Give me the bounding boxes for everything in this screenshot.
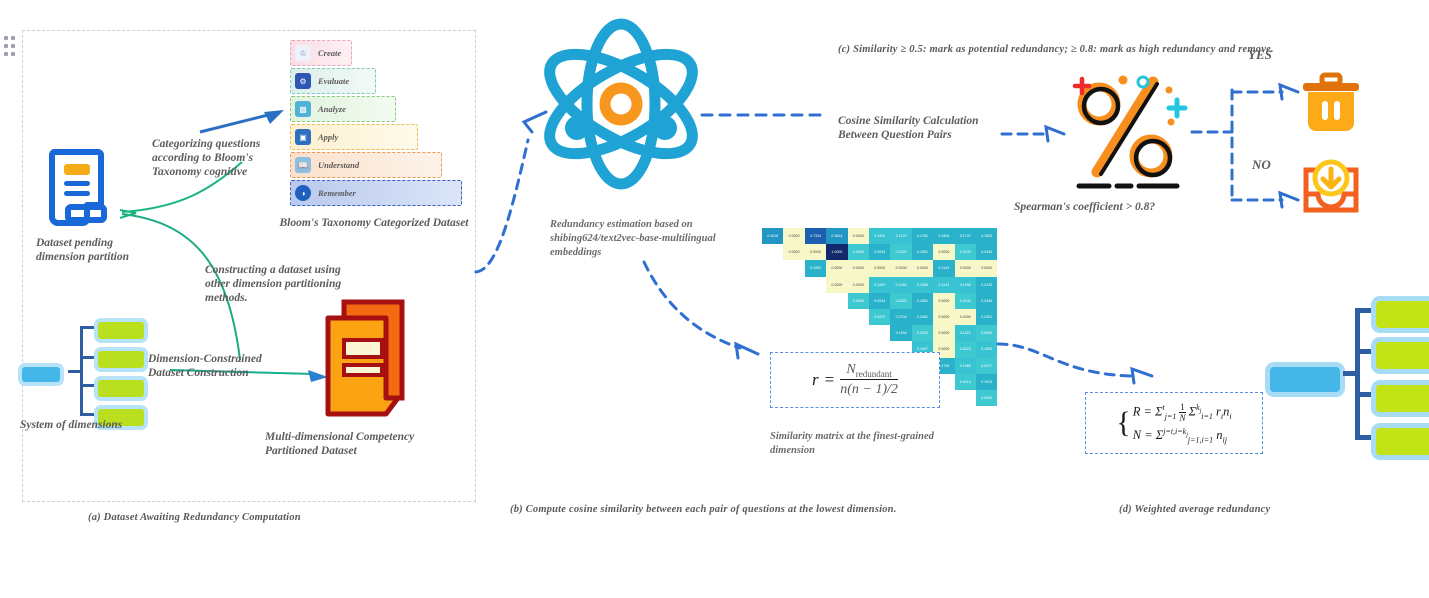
formula-r-denominator: n(n − 1)/2 (840, 380, 898, 398)
matrix-cell: 0.0000 (848, 277, 869, 293)
brain-icon: ◑ (295, 185, 311, 201)
matrix-cell: 0.1298 (955, 277, 976, 293)
bloom-arrow-label-l1: Categorizing questions (152, 137, 287, 151)
matrix-cell: 0.0113 (955, 374, 976, 390)
matrix-cell: 0.0217 (976, 358, 997, 374)
formula-r-numerator: Nredundant (840, 362, 898, 381)
matrix-cell: 0.0000 (933, 325, 954, 341)
connector-atom-to-cosine (700, 108, 830, 122)
result-node[interactable] (1371, 423, 1429, 460)
branch-yes-label: YES (1248, 48, 1272, 62)
other-methods-l2: other dimension partitioning (205, 277, 365, 291)
matrix-cell: 0.0223 (955, 341, 976, 357)
download-tray-icon[interactable] (1300, 160, 1362, 218)
bloom-level-label: Create (318, 48, 341, 58)
crown-icon: ♔ (295, 45, 311, 61)
matrix-cell: 0.0000 (955, 260, 976, 276)
matrix-cell: 0.1804 (933, 228, 954, 244)
system-of-dimensions-tree (18, 318, 168, 428)
db-label-l1: Multi-dimensional Competency (265, 430, 465, 444)
matrix-cell: 0.1851 (912, 293, 933, 309)
matrix-cell: 0.0130 (955, 293, 976, 309)
formula-r-numerator-sub: redundant (856, 368, 892, 378)
db-label-l2: Partitioned Dataset (265, 444, 465, 458)
dimension-node[interactable] (94, 347, 148, 372)
book-icon: 📖 (295, 157, 311, 173)
dimension-constrained-l1: Dimension-Constrained (148, 352, 308, 366)
trash-icon[interactable] (1300, 73, 1362, 135)
matrix-cell: 0.0000 (805, 244, 826, 260)
dimension-node[interactable] (94, 318, 148, 343)
bloom-level-label: Remember (318, 188, 356, 198)
arrow-to-bloom (198, 102, 290, 138)
matrix-cell: 0.1781 (912, 228, 933, 244)
matrix-cell: 0.0000 (912, 260, 933, 276)
dataset-document-icon (48, 148, 116, 230)
bloom-arrow-label: Categorizing questions according to Bloo… (152, 137, 287, 179)
bloom-level-analyze[interactable]: ▩ Analyze (290, 96, 396, 122)
bloom-level-create[interactable]: ♔ Create (290, 40, 352, 66)
matrix-caption-l1: Similarity matrix at the finest-grained (770, 430, 980, 444)
matrix-cell: 0.1066 (912, 277, 933, 293)
matrix-cell: 0.0000 (826, 277, 847, 293)
matrix-cell: 0.0130 (955, 244, 976, 260)
cosine-note-l2: Between Question Pairs (838, 128, 1008, 142)
bloom-level-understand[interactable]: 📖 Understand (290, 152, 442, 178)
matrix-cell: 0.1983 (805, 260, 826, 276)
other-methods-label: Constructing a dataset using other dimen… (205, 263, 365, 305)
matrix-cell: 0.1170 (890, 228, 911, 244)
db-label: Multi-dimensional Competency Partitioned… (265, 430, 465, 458)
bloom-arrow-label-l2: according to Bloom's (152, 151, 287, 165)
matrix-cell: 0.1262 (869, 277, 890, 293)
bloom-level-apply[interactable]: ▣ Apply (290, 124, 418, 150)
matrix-cell: 0.1069 (955, 358, 976, 374)
bloom-level-remember[interactable]: ◑ Remember (290, 180, 462, 206)
dimension-constrained-l2: Dataset Construction (148, 366, 308, 380)
matrix-cell: 1.0000 (826, 244, 847, 260)
bloom-caption: Bloom's Taxonomy Categorized Dataset (274, 216, 474, 230)
matrix-cell: 0.0848 (848, 293, 869, 309)
matrix-cell: 0.0000 (976, 260, 997, 276)
bloom-level-label: Analyze (318, 104, 346, 114)
basket-icon: ▣ (295, 129, 311, 145)
tree-spine (1355, 308, 1360, 440)
bloom-level-evaluate[interactable]: ⚙ Evaluate (290, 68, 376, 94)
atom-note: Redundancy estimation based on shibing62… (550, 218, 765, 260)
tree-spine (80, 326, 83, 416)
matrix-cell: 0.0220 (912, 325, 933, 341)
matrix-cell: 0.2133 (976, 277, 997, 293)
matrix-cell: 0.0943 (976, 390, 997, 406)
matrix-cell: 0.0220 (890, 293, 911, 309)
matrix-cell: 0.0000 (848, 228, 869, 244)
matrix-cell: 0.0000 (826, 260, 847, 276)
branch-no-label: NO (1252, 158, 1271, 172)
matrix-cell: 0.2149 (933, 260, 954, 276)
matrix-cell: 0.4918 (762, 228, 783, 244)
matrix-cell: 0.0000 (783, 244, 804, 260)
matrix-cell: 0.7334 (805, 228, 826, 244)
weighted-redundancy-formula-box: { R = Σtj=1 1 N Σkji=1 rini N = Σj=t,i=k… (1085, 392, 1263, 454)
cosine-note: Cosine Similarity Calculation Between Qu… (838, 114, 1008, 142)
matrix-cell: 0.1040 (890, 277, 911, 293)
result-node[interactable] (1371, 380, 1429, 417)
result-node[interactable] (1371, 337, 1429, 374)
atom-note-l2: shibing624/text2vec-base-multilingual (550, 232, 765, 246)
arrow-b-to-matrix (640, 258, 770, 368)
matrix-cell: 0.0848 (848, 244, 869, 260)
bloom-taxonomy-pyramid: ♔ Create ⚙ Evaluate ▩ Analyze ▣ Apply 📖 … (284, 38, 466, 208)
dimension-constrained-label: Dimension-Constrained Dataset Constructi… (148, 352, 308, 380)
atom-note-l1: Redundancy estimation based on (550, 218, 765, 232)
matrix-cell: 0.2044 (869, 244, 890, 260)
matrix-cell: 0.2444 (976, 293, 997, 309)
bloom-level-label: Apply (318, 132, 338, 142)
matrix-cell: 0.0222 (869, 309, 890, 325)
drag-handle-dots[interactable] (4, 36, 16, 58)
other-methods-l1: Constructing a dataset using (205, 263, 365, 277)
bloom-level-label: Understand (318, 160, 359, 170)
matrix-cell: 0.1424 (869, 228, 890, 244)
result-root-node[interactable] (1265, 362, 1345, 397)
formula-N-line: N = Σj=t,i=kjj=1,i=1 nij (1133, 427, 1232, 445)
matrix-cell: 0.0000 (890, 260, 911, 276)
matrix-cell: 0.1022 (955, 325, 976, 341)
panel-d-caption: (d) Weighted average redundancy (1119, 504, 1270, 515)
matrix-caption-l2: dimension (770, 444, 980, 458)
dimension-root-node[interactable] (18, 363, 64, 386)
matrix-cell: 0.1747 (955, 228, 976, 244)
matrix-caption: Similarity matrix at the finest-grained … (770, 430, 980, 458)
formula-r-lhs: r (812, 370, 819, 390)
matrix-cell: 0.1693 (976, 228, 997, 244)
matrix-cell: 0.1904 (890, 325, 911, 341)
matrix-cell: 0.2044 (869, 293, 890, 309)
spearman-question: Spearman's coefficient > 0.8? (1014, 200, 1155, 214)
matrix-cell: 0.0000 (955, 309, 976, 325)
matrix-cell: 0.3814 (826, 228, 847, 244)
dimension-node[interactable] (94, 376, 148, 401)
bloom-arrow-label-l3: Taxonomy cognitive (152, 165, 287, 179)
matrix-cell: 0.2444 (976, 244, 997, 260)
matrix-cell: 0.1851 (912, 244, 933, 260)
matrix-cell: 0.1143 (933, 277, 954, 293)
matrix-cell: 0.1914 (976, 374, 997, 390)
percent-symbol-icon (1065, 68, 1189, 192)
panel-a-caption: (a) Dataset Awaiting Redundancy Computat… (88, 512, 301, 523)
cosine-note-l1: Cosine Similarity Calculation (838, 114, 1008, 128)
panel-b-caption: (b) Compute cosine similarity between ea… (510, 504, 897, 515)
matrix-cell: 0.2451 (976, 309, 997, 325)
bar-chart-icon: ▩ (295, 101, 311, 117)
matrix-cell: 0.2461 (912, 309, 933, 325)
arrow-to-panel-d (996, 340, 1176, 396)
gear-icon: ⚙ (295, 73, 311, 89)
dimension-tree-label: System of dimensions (20, 418, 122, 432)
weighted-result-tree (1265, 300, 1425, 460)
matrix-cell: 0.1530 (976, 341, 997, 357)
matrix-cell: 0.2704 (890, 309, 911, 325)
matrix-cell: 0.0840 (976, 325, 997, 341)
partitioned-dataset-icon (322, 300, 408, 418)
matrix-cell: 0.0000 (783, 228, 804, 244)
bloom-level-label: Evaluate (318, 76, 349, 86)
atom-embedding-icon (545, 18, 697, 190)
matrix-cell: 0.0000 (869, 260, 890, 276)
formula-R-line: R = Σtj=1 1 N Σkji=1 rini (1133, 402, 1232, 423)
matrix-cell: 0.0000 (848, 260, 869, 276)
panel-c-caption: (c) Similarity ≥ 0.5: mark as potential … (838, 44, 1274, 55)
result-node[interactable] (1371, 296, 1429, 333)
redundancy-ratio-formula-box: r = Nredundant n(n − 1)/2 (770, 352, 940, 408)
arrow-to-percent (1000, 124, 1074, 144)
matrix-cell: 0.0220 (890, 244, 911, 260)
matrix-cell: 0.0000 (933, 309, 954, 325)
matrix-cell: 0.0000 (933, 293, 954, 309)
matrix-cell: 0.0000 (933, 244, 954, 260)
